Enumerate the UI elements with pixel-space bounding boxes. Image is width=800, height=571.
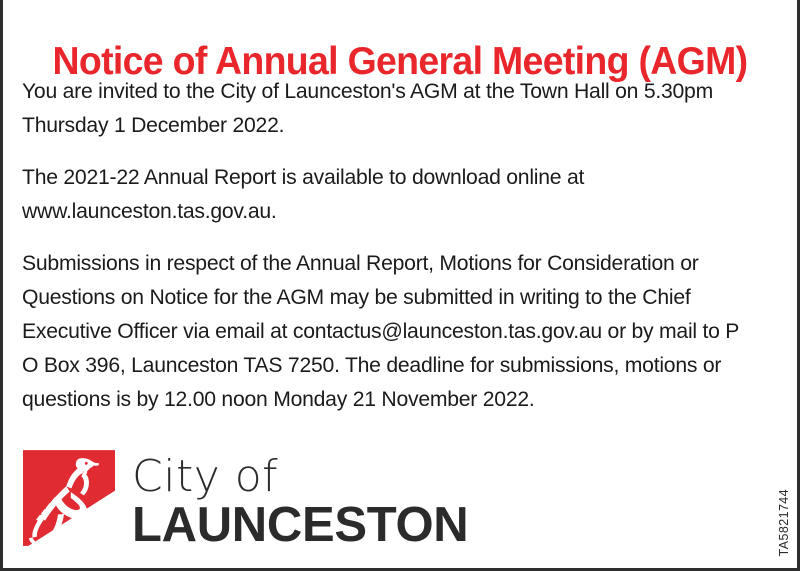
- notice-paragraph-invitation: You are invited to the City of Launcesto…: [22, 74, 758, 142]
- logo-wordmark: City of LAUNCESTON: [132, 450, 468, 551]
- notice-paragraph-annual-report: The 2021-22 Annual Report is available t…: [22, 160, 758, 228]
- logo-line-city-of: City of: [132, 453, 468, 501]
- notice-body: You are invited to the City of Launcesto…: [22, 74, 769, 416]
- logo-line-launceston: LAUNCESTON: [132, 499, 468, 551]
- city-of-launceston-logo: City of LAUNCESTON: [23, 450, 468, 551]
- thylacine-pennant-crest-icon: [23, 450, 115, 546]
- notice-paragraph-submissions: Submissions in respect of the Annual Rep…: [22, 246, 758, 416]
- advertisement-notice: Notice of Annual General Meeting (AGM) Y…: [0, 0, 800, 571]
- advertisement-reference-code: TA5821744: [777, 489, 791, 556]
